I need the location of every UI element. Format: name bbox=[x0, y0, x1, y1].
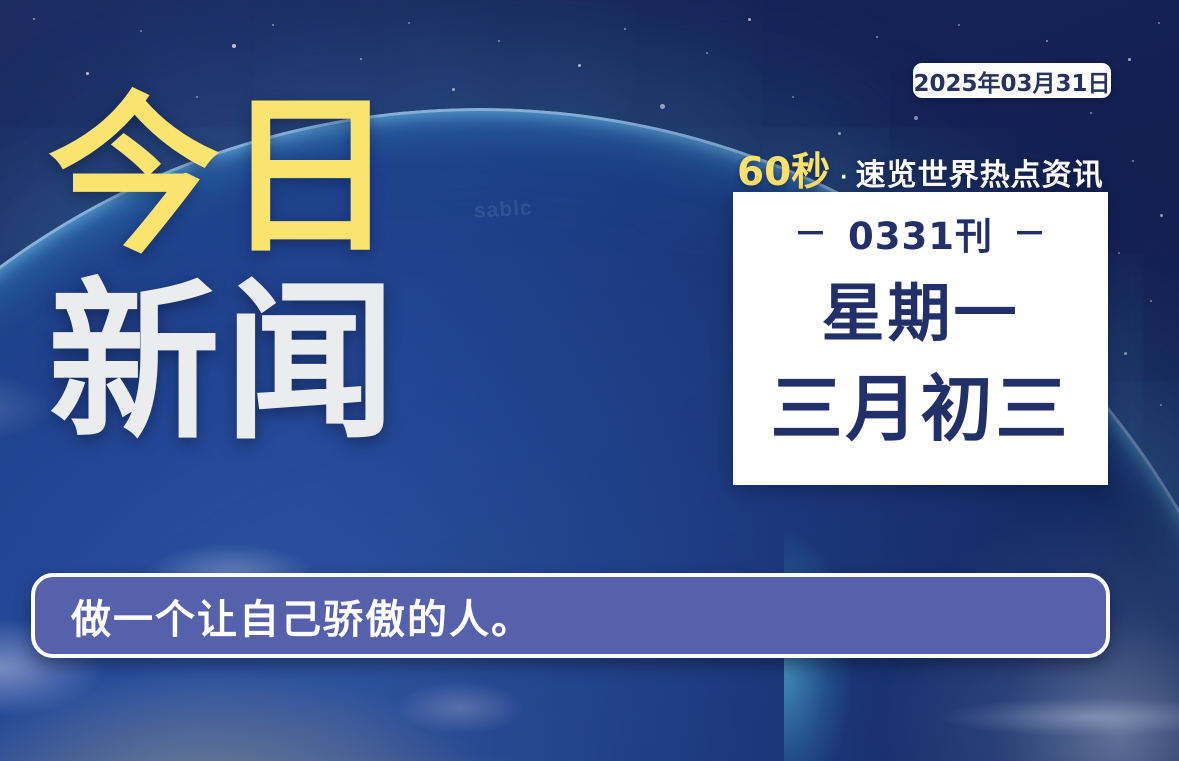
title-line-news: 新闻 bbox=[48, 282, 400, 444]
poster-canvas: sablc 今日 新闻 2025年03月31日 60秒 · 速览世界热点资讯 －… bbox=[0, 0, 1179, 761]
tagline: 60秒 · 速览世界热点资讯 bbox=[737, 141, 1104, 197]
quote-text: 做一个让自己骄傲的人。 bbox=[71, 587, 533, 645]
date-badge-label: 2025年03月31日 bbox=[913, 64, 1110, 98]
quote-bar: 做一个让自己骄傲的人。 bbox=[31, 573, 1110, 658]
tagline-seconds: 60秒 bbox=[737, 141, 830, 197]
title-line-today: 今日 bbox=[48, 96, 400, 258]
issue-number: 0331刊 bbox=[848, 206, 993, 260]
date-info-card: － 0331刊 － 星期一 三月初三 bbox=[733, 192, 1108, 485]
weekday-label: 星期一 bbox=[822, 282, 1020, 345]
dash-right: － bbox=[1013, 217, 1047, 250]
tagline-separator: · bbox=[834, 163, 851, 192]
issue-row: － 0331刊 － bbox=[794, 206, 1047, 260]
tagline-text: 速览世界热点资讯 bbox=[856, 150, 1104, 194]
lunar-date-label: 三月初三 bbox=[770, 373, 1070, 445]
date-badge: 2025年03月31日 bbox=[913, 63, 1111, 98]
dash-left: － bbox=[794, 217, 828, 250]
poster-title: 今日 新闻 bbox=[48, 96, 400, 443]
